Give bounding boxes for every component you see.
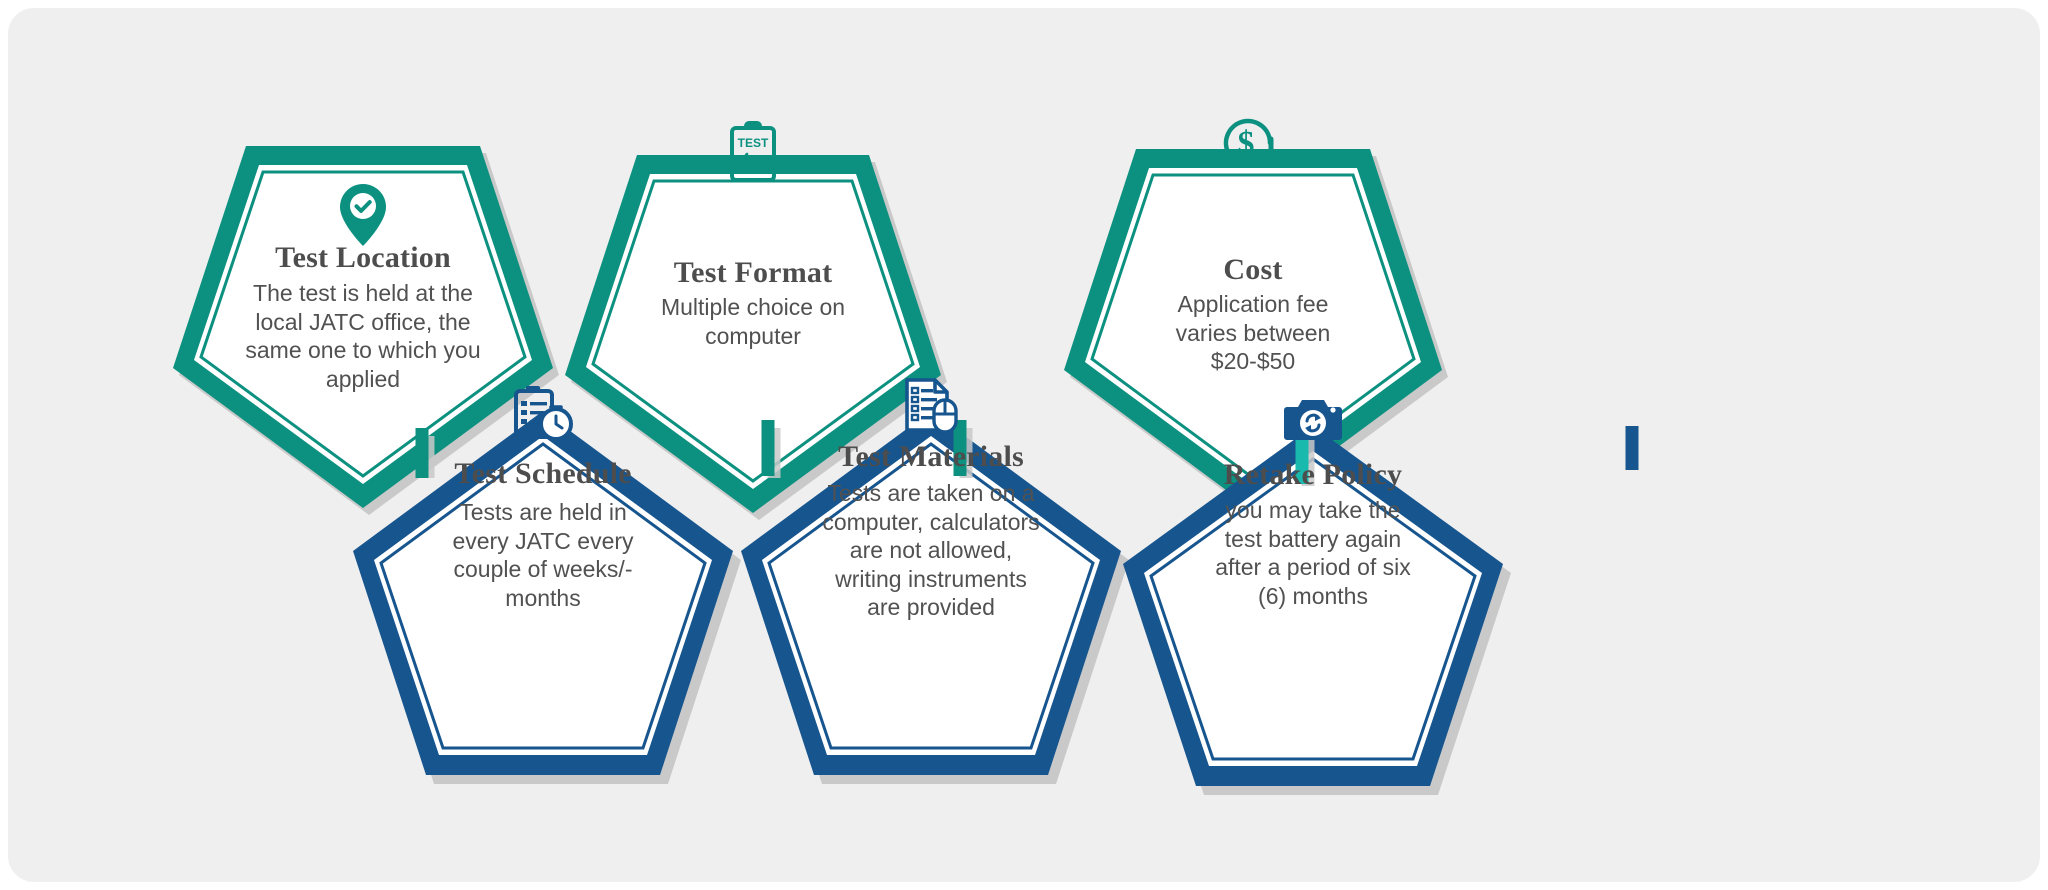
location-pin-check-icon: [335, 182, 391, 248]
node-title: Test Location: [163, 241, 563, 275]
node-body: Tests are held in every JATC every coupl…: [398, 498, 688, 612]
infographic-stage: Test Location The test is held at the lo…: [8, 8, 2040, 882]
svg-text:TEST: TEST: [738, 136, 769, 150]
node-body: Tests are taken on a computer, calculato…: [776, 479, 1086, 622]
node-title: Test Schedule: [338, 457, 748, 491]
node-body: Multiple choice on computer: [603, 293, 903, 350]
infographic-canvas: Test Location The test is held at the lo…: [8, 8, 2040, 882]
dollar-circle-arrow-icon: $: [1221, 113, 1285, 173]
node-title: Test Materials: [726, 440, 1136, 474]
node-body: you may take the test battery again afte…: [1163, 496, 1463, 610]
node-body: Application fee varies between $20-$50: [1108, 290, 1398, 376]
node-title: Test Format: [553, 256, 953, 290]
clipboard-test-icon: TEST: [726, 120, 780, 184]
svg-text:$: $: [1238, 125, 1255, 162]
clipboard-stopwatch-icon: [510, 383, 576, 445]
camera-refresh-icon: [1283, 395, 1343, 445]
node-body: The test is held at the local JATC offic…: [208, 279, 518, 393]
node-title: Cost: [1053, 253, 1453, 287]
node-title: Retake Policy: [1108, 458, 1518, 492]
document-mouse-icon: [901, 376, 961, 438]
